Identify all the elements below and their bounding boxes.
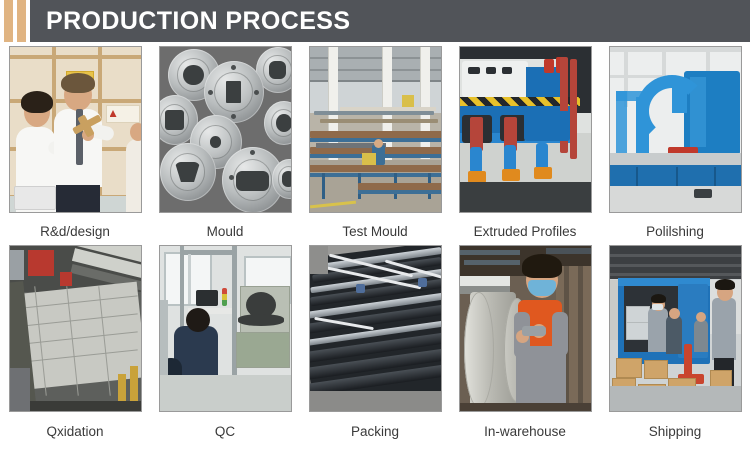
rd-design-thumbnail[interactable] bbox=[9, 46, 142, 213]
accent-bar-right bbox=[17, 0, 26, 42]
process-step-label: Test Mould bbox=[300, 213, 450, 245]
process-step-qc[interactable]: QC bbox=[150, 245, 300, 445]
process-step-label: Shipping bbox=[600, 412, 750, 445]
process-step-label: QC bbox=[150, 412, 300, 445]
process-step-packing[interactable]: Packing bbox=[300, 245, 450, 445]
production-process-page: PRODUCTION PROCESS bbox=[0, 0, 750, 470]
oxidation-thumbnail[interactable] bbox=[9, 245, 142, 412]
loading-truck-photo bbox=[610, 246, 741, 411]
mould-thumbnail[interactable] bbox=[159, 46, 292, 213]
factory-conveyor-hall-photo bbox=[310, 47, 441, 212]
quality-test-lab-photo bbox=[160, 246, 291, 411]
process-step-label: Packing bbox=[300, 412, 450, 445]
in-warehouse-thumbnail[interactable] bbox=[459, 245, 592, 412]
steel-extrusion-dies-photo bbox=[160, 47, 291, 212]
process-step-label: Extruded Profiles bbox=[450, 213, 600, 245]
process-row: Qxidation bbox=[0, 245, 750, 445]
process-step-label: Polilshing bbox=[600, 213, 750, 245]
anodizing-tank-photo bbox=[10, 246, 141, 411]
packing-thumbnail[interactable] bbox=[309, 245, 442, 412]
process-step-shipping[interactable]: Shipping bbox=[600, 245, 750, 445]
polishing-thumbnail[interactable] bbox=[609, 46, 742, 213]
process-step-test-mould[interactable]: Test Mould bbox=[300, 46, 450, 245]
qc-thumbnail[interactable] bbox=[159, 245, 292, 412]
wrapped-profile-bundle-photo bbox=[310, 246, 441, 411]
process-step-rd-design[interactable]: R&d/design bbox=[0, 46, 150, 245]
process-step-polishing[interactable]: Polilshing bbox=[600, 46, 750, 245]
process-step-oxidation[interactable]: Qxidation bbox=[0, 245, 150, 445]
hydraulic-extrusion-press-photo bbox=[460, 47, 591, 212]
page-header: PRODUCTION PROCESS bbox=[0, 0, 750, 42]
page-title: PRODUCTION PROCESS bbox=[46, 0, 350, 42]
process-step-label: R&d/design bbox=[0, 213, 150, 245]
process-step-label: Qxidation bbox=[0, 412, 150, 445]
accent-bar-left bbox=[4, 0, 13, 42]
process-step-label: In-warehouse bbox=[450, 412, 600, 445]
process-row: R&d/design bbox=[0, 46, 750, 245]
test-mould-thumbnail[interactable] bbox=[309, 46, 442, 213]
extruded-profiles-thumbnail[interactable] bbox=[459, 46, 592, 213]
process-step-in-warehouse[interactable]: In-warehouse bbox=[450, 245, 600, 445]
process-step-mould[interactable]: Mould bbox=[150, 46, 300, 245]
process-step-label: Mould bbox=[150, 213, 300, 245]
shipping-thumbnail[interactable] bbox=[609, 245, 742, 412]
process-step-extruded-profiles[interactable]: Extruded Profiles bbox=[450, 46, 600, 245]
process-grid: R&d/design bbox=[0, 46, 750, 445]
worker-with-coil-photo bbox=[460, 246, 591, 411]
blue-polishing-machine-photo bbox=[610, 47, 741, 212]
header-accent-bars bbox=[4, 0, 30, 42]
showroom-rd-design-photo bbox=[10, 47, 141, 212]
